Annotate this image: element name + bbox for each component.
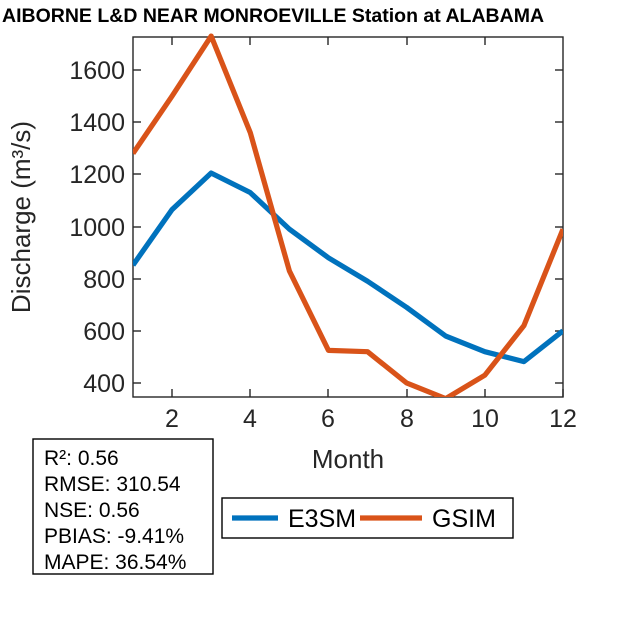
stat-mape: MAPE: 36.54% [44,551,186,574]
y-tick-label-400: 400 [83,370,125,398]
x-tick-label-4: 4 [243,405,257,433]
stat-rmse: RMSE: 310.54 [44,473,181,496]
statistics-box: R²: 0.56 RMSE: 310.54 NSE: 0.56 PBIAS: -… [33,439,213,574]
chart-legend: E3SM GSIM [222,498,513,538]
legend-label-e3sm: E3SM [288,505,356,533]
stat-r2: R²: 0.56 [44,447,119,470]
y-tick-label-1400: 1400 [69,109,125,137]
y-tick-label-1600: 1600 [69,57,125,85]
y-tick-label-800: 800 [83,266,125,294]
x-tick-label-8: 8 [400,405,414,433]
y-tick-label-1000: 1000 [69,214,125,242]
x-tick-label-6: 6 [321,405,335,433]
x-axis-label: Month [312,444,384,474]
y-axis-label: Discharge (m³/s) [6,121,36,313]
legend-label-gsim: GSIM [432,505,496,533]
stat-nse: NSE: 0.56 [44,499,140,522]
x-tick-label-10: 10 [471,405,499,433]
x-tick-label-2: 2 [165,405,179,433]
discharge-line-chart: AIBORNE L&D NEAR MONROEVILLE Station at … [0,0,625,625]
y-tick-label-1200: 1200 [69,161,125,189]
chart-title: AIBORNE L&D NEAR MONROEVILLE Station at … [2,5,544,27]
x-tick-label-12: 12 [549,405,577,433]
y-tick-label-600: 600 [83,318,125,346]
stat-pbias: PBIAS: -9.41% [44,525,184,548]
